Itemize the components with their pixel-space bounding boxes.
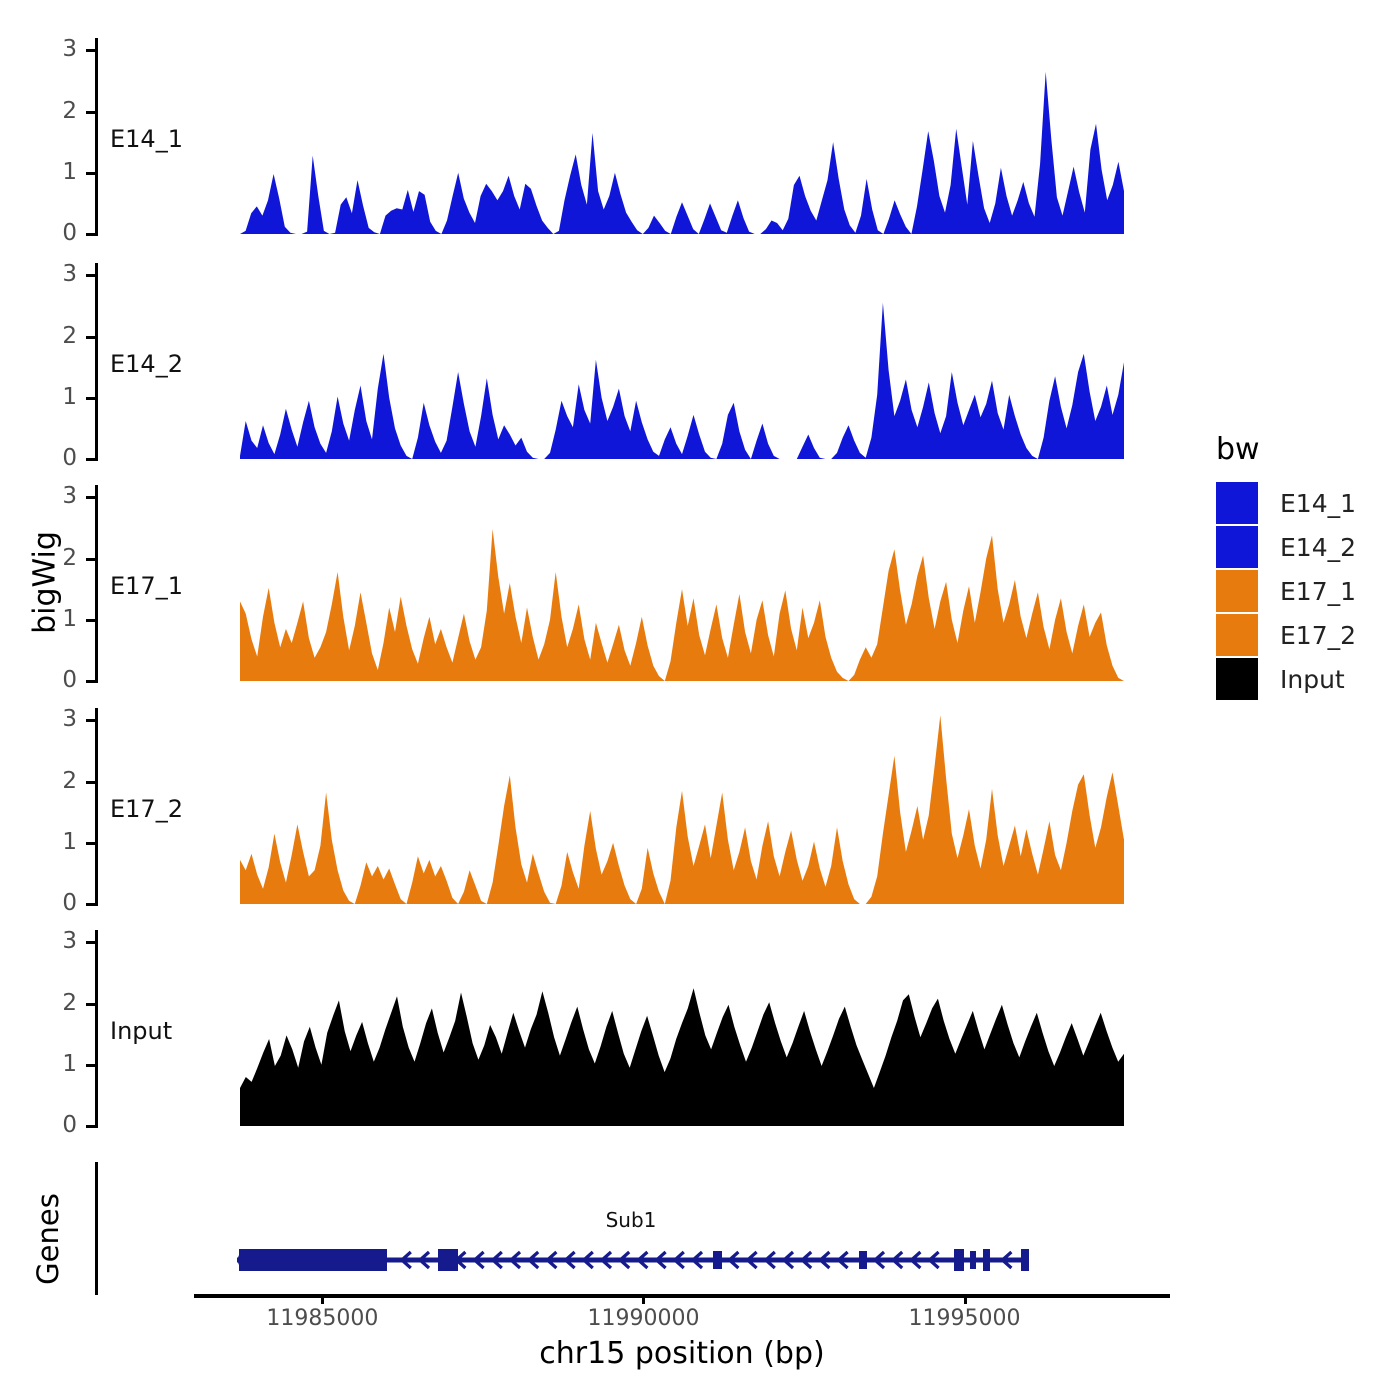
y-tick-label: 3 [37, 930, 77, 953]
x-tick-label: 11990000 [543, 1308, 743, 1330]
y-axis-line-e17_2 [95, 708, 98, 906]
y-tick-label: 3 [37, 485, 77, 508]
legend-item-label: Input [1280, 665, 1345, 694]
plot-root: bigWig Genes 0123E14_10123E14_20123E17_1… [0, 0, 1400, 1400]
track-label-input: Input [110, 1017, 172, 1045]
x-axis-title: chr15 position (bp) [482, 1336, 882, 1371]
y-tickmark [86, 496, 96, 499]
x-axis-line [194, 1294, 1170, 1298]
x-tickmark [964, 1295, 967, 1304]
y-tickmark [86, 1125, 96, 1128]
y-tickmark [86, 680, 96, 683]
y-axis-line-e14_1 [95, 38, 98, 236]
legend-items: E14_1E14_2E17_1E17_2Input [1216, 481, 1356, 701]
y-tick-label: 2 [37, 100, 77, 123]
legend-key-swatch [1216, 658, 1258, 700]
track-area-e14_1 [240, 38, 1124, 236]
gene-model[interactable] [194, 1242, 1170, 1278]
y-tickmark [86, 336, 96, 339]
y-tick-label: 2 [37, 547, 77, 570]
gene-exon [713, 1251, 722, 1269]
y-tickmark [86, 49, 96, 52]
y-tick-label: 3 [37, 708, 77, 731]
y-tick-label: 3 [37, 38, 77, 61]
y-tickmark [86, 842, 96, 845]
y-tickmark [86, 903, 96, 906]
legend-title: bw [1216, 432, 1356, 467]
y-tick-label: 2 [37, 325, 77, 348]
legend-item-input[interactable]: Input [1216, 657, 1356, 701]
x-tickmark [321, 1295, 324, 1304]
legend-item-label: E17_1 [1280, 577, 1356, 606]
gene-exon [983, 1249, 990, 1271]
y-tick-label: 1 [37, 608, 77, 631]
track-label-e17_1: E17_1 [110, 572, 183, 600]
gene-exon [438, 1249, 458, 1271]
genes-axis-line [95, 1162, 98, 1295]
y-tick-label: 0 [37, 222, 77, 245]
legend-item-e14_1[interactable]: E14_1 [1216, 481, 1356, 525]
y-tick-label: 1 [37, 386, 77, 409]
y-axis-title: bigWig [28, 483, 63, 683]
legend-key-swatch [1216, 526, 1258, 568]
x-tick-label: 11985000 [222, 1308, 422, 1330]
legend-key-swatch [1216, 482, 1258, 524]
y-tick-label: 2 [37, 992, 77, 1015]
gene-exon [1021, 1249, 1029, 1271]
y-axis-line-e14_2 [95, 263, 98, 461]
y-tickmark [86, 558, 96, 561]
y-axis-line-input [95, 930, 98, 1128]
track-area-e17_2 [240, 708, 1124, 906]
y-tickmark [86, 781, 96, 784]
y-tick-label: 1 [37, 161, 77, 184]
legend: bw E14_1E14_2E17_1E17_2Input [1216, 432, 1356, 701]
legend-item-label: E17_2 [1280, 621, 1356, 650]
y-tickmark [86, 1003, 96, 1006]
y-tickmark [86, 719, 96, 722]
gene-exon [970, 1251, 976, 1269]
legend-item-e17_2[interactable]: E17_2 [1216, 613, 1356, 657]
y-tickmark [86, 172, 96, 175]
y-tick-label: 0 [37, 892, 77, 915]
y-tickmark [86, 619, 96, 622]
track-area-e14_2 [240, 263, 1124, 461]
y-tick-label: 2 [37, 770, 77, 793]
y-tick-label: 0 [37, 1114, 77, 1137]
legend-item-label: E14_1 [1280, 489, 1356, 518]
legend-item-e14_2[interactable]: E14_2 [1216, 525, 1356, 569]
legend-item-label: E14_2 [1280, 533, 1356, 562]
y-tickmark [86, 458, 96, 461]
track-label-e14_2: E14_2 [110, 350, 183, 378]
track-label-e17_2: E17_2 [110, 795, 183, 823]
y-tickmark [86, 274, 96, 277]
y-axis-line-e17_1 [95, 485, 98, 683]
y-tickmark [86, 397, 96, 400]
y-tickmark [86, 233, 96, 236]
y-tickmark [86, 941, 96, 944]
y-tick-label: 1 [37, 831, 77, 854]
y-tick-label: 3 [37, 263, 77, 286]
y-tick-label: 1 [37, 1053, 77, 1076]
y-tickmark [86, 111, 96, 114]
gene-exon [859, 1251, 867, 1269]
legend-key-swatch [1216, 614, 1258, 656]
y-tickmark [86, 1064, 96, 1067]
genes-axis-title: Genes [31, 1139, 65, 1339]
track-label-e14_1: E14_1 [110, 125, 183, 153]
gene-label: Sub1 [531, 1208, 731, 1232]
y-tick-label: 0 [37, 447, 77, 470]
legend-key-swatch [1216, 570, 1258, 612]
track-area-e17_1 [240, 485, 1124, 683]
x-tickmark [642, 1295, 645, 1304]
y-tick-label: 0 [37, 669, 77, 692]
x-tick-label: 11995000 [865, 1308, 1065, 1330]
legend-item-e17_1[interactable]: E17_1 [1216, 569, 1356, 613]
gene-exon [954, 1249, 964, 1271]
track-area-input [240, 930, 1124, 1128]
gene-exon [239, 1249, 387, 1271]
